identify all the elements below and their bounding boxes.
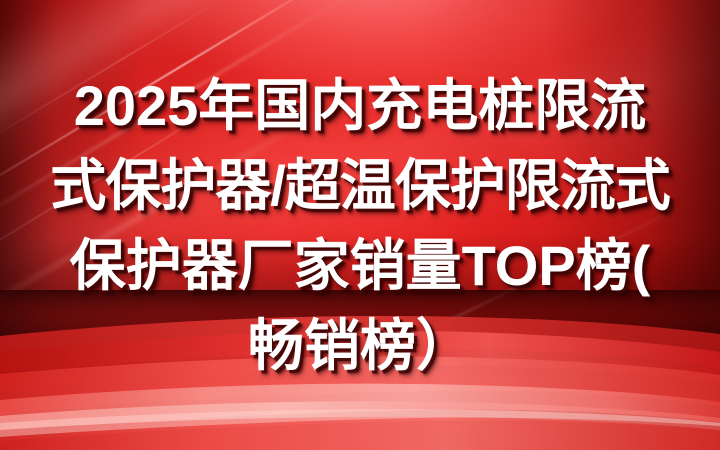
headline-line-1: 2025年国内充电桩限流 [0,66,720,146]
poster-canvas: 2025年国内充电桩限流 式保护器/超温保护限流式 保护器厂家销量TOP榜( 畅… [0,0,720,450]
headline-line-4: 畅销榜） [0,306,720,386]
headline-line-2: 式保护器/超温保护限流式 [0,146,720,226]
headline-line-3: 保护器厂家销量TOP榜( [0,226,720,306]
headline-block: 2025年国内充电桩限流 式保护器/超温保护限流式 保护器厂家销量TOP榜( 畅… [0,66,720,386]
